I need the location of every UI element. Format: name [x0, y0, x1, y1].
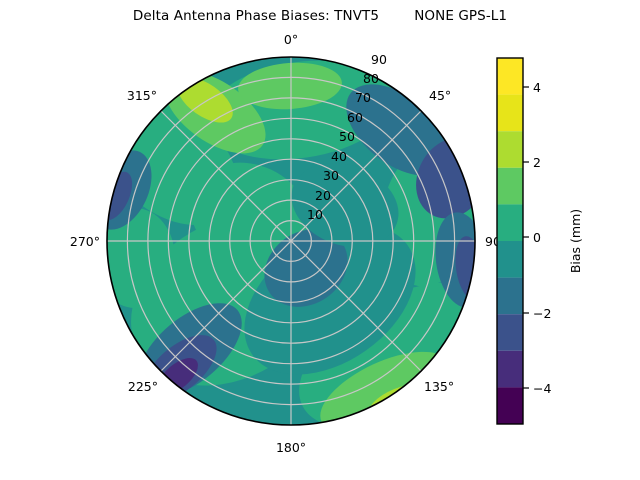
- polar-grid-spokes: [107, 57, 475, 425]
- radial-label-20: 20: [315, 188, 331, 203]
- radial-label-10: 10: [307, 207, 323, 222]
- colorbar-tick-neg2: −2: [533, 306, 551, 321]
- radial-label-30: 30: [323, 168, 339, 183]
- contour-field: [73, 49, 524, 458]
- colorbar-tick-neg4: −4: [533, 381, 551, 396]
- radial-label-90: 90: [371, 52, 387, 67]
- azimuth-label-0: 0°: [284, 32, 298, 47]
- azimuth-label-135: 135°: [424, 379, 454, 394]
- azimuth-label-315: 315°: [127, 88, 157, 103]
- radial-label-40: 40: [331, 149, 347, 164]
- azimuth-label-270: 270°: [70, 234, 100, 249]
- colorbar-tick-2: 2: [533, 155, 541, 170]
- colorbar-tick-labels: 4 2 0 −2 −4: [533, 80, 551, 396]
- azimuth-label-45: 45°: [429, 88, 451, 103]
- colorbar-tick-4: 4: [533, 80, 541, 95]
- radial-label-70: 70: [355, 90, 371, 105]
- colorbar-tick-0: 0: [533, 230, 541, 245]
- colorbar-bands: [497, 58, 523, 424]
- azimuth-label-225: 225°: [128, 379, 158, 394]
- radial-label-80: 80: [363, 71, 379, 86]
- radial-label-50: 50: [339, 129, 355, 144]
- polar-contour-figure: 0° 45° 90 135° 180° 225° 270° 315° 10 20…: [0, 0, 640, 480]
- colorbar-axis-label: Bias (mm): [568, 209, 583, 273]
- radial-label-60: 60: [347, 110, 363, 125]
- colorbar[interactable]: 4 2 0 −2 −4 Bias (mm): [497, 58, 583, 424]
- azimuth-label-180: 180°: [276, 440, 306, 455]
- colorbar-ticks: [523, 87, 529, 388]
